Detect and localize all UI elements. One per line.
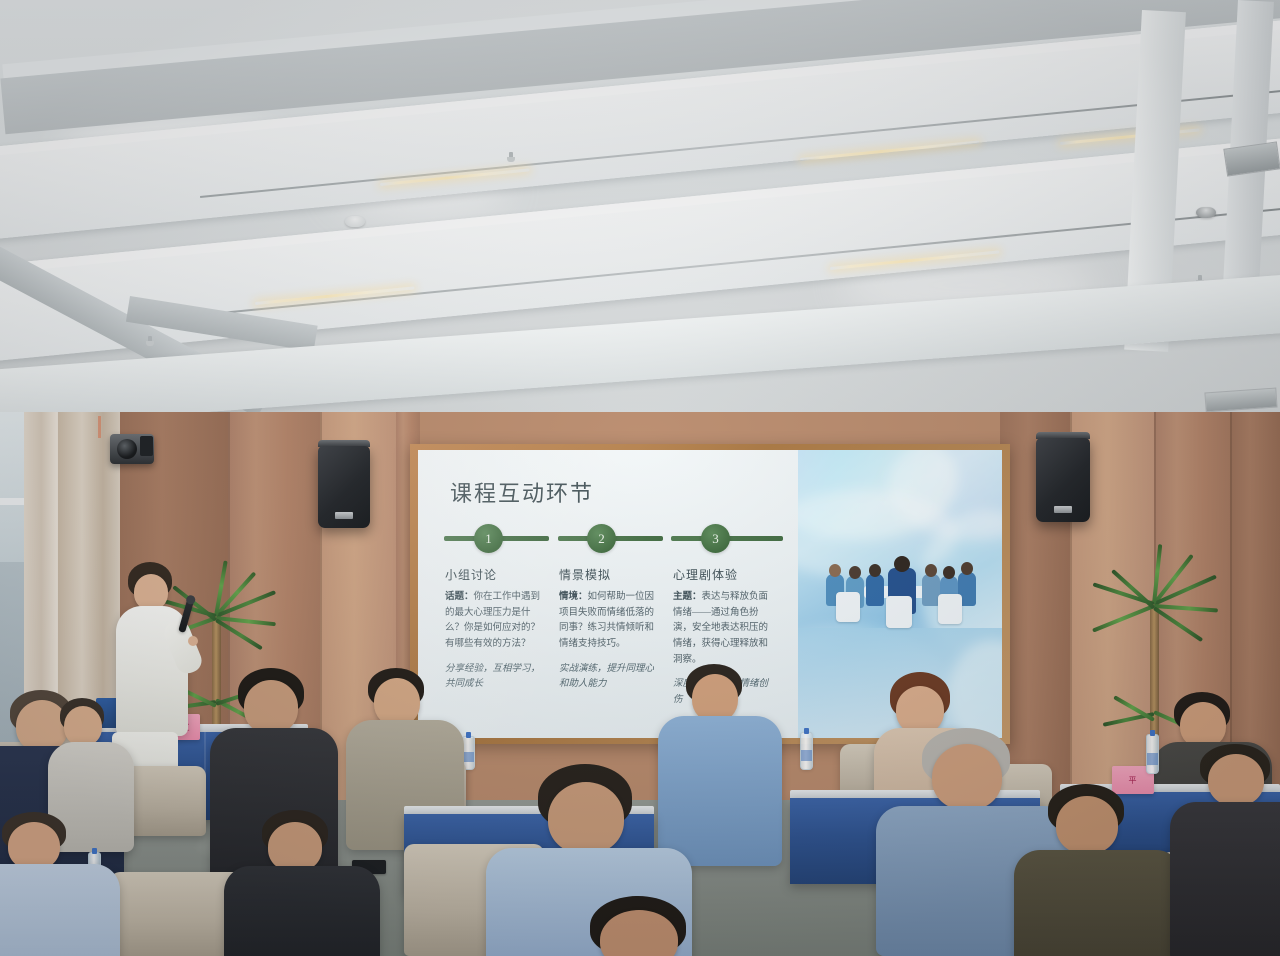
water-bottle[interactable]: [800, 732, 813, 770]
column-body: 话题：你在工作中遇到的最大心理压力是什么？你是如何应对的？有哪些有效的方法？: [445, 590, 541, 653]
ptz-camera-icon: [110, 434, 154, 464]
slide-title: 课程互动环节: [450, 476, 594, 508]
column-footer: 实战演练，提升同理心和助人能力: [559, 662, 655, 693]
ceiling: [0, 0, 1280, 420]
wall-speaker: [318, 446, 370, 528]
slide-content: 课程互动环节 1 2 3 小组讨论 话题：你在工作中遇到的最大心理压力是什么？你…: [418, 450, 798, 738]
column-body-text: 表达与释放负面情绪——通过角色扮演，安全地表达积压的情绪，获得心理释放和洞察。: [673, 592, 768, 665]
column-body: 主题：表达与释放负面情绪——通过角色扮演，安全地表达积压的情绪，获得心理释放和洞…: [673, 590, 769, 668]
step-badge-2: 2: [587, 524, 616, 553]
column-body: 情境：如何帮助一位因项目失败而情绪低落的同事？练习共情倾听和情绪支持技巧。: [559, 590, 655, 653]
wall-speaker: [1036, 438, 1090, 522]
slide-column-1: 小组讨论 话题：你在工作中遇到的最大心理压力是什么？你是如何应对的？有哪些有效的…: [445, 566, 541, 693]
sprinkler-head-icon: [146, 336, 154, 348]
column-heading: 小组讨论: [445, 566, 541, 583]
column-heading: 心理剧体验: [673, 566, 769, 583]
step-badge-1: 1: [474, 524, 503, 553]
presenter-head: [134, 574, 168, 610]
ceiling-vent: [1204, 388, 1277, 413]
column-footer: 分享经验，互相学习，共同成长: [445, 662, 541, 693]
sprinkler-head-icon: [507, 152, 515, 164]
column-heading: 情景模拟: [559, 566, 655, 583]
smoke-detector-icon: [345, 216, 365, 227]
water-bottle[interactable]: [1146, 734, 1159, 774]
curtain: [58, 412, 118, 742]
conference-room-photo: 课程互动环节 1 2 3 小组讨论 话题：你在工作中遇到的最大心理压力是什么？你…: [0, 0, 1280, 956]
slide-column-2: 情景模拟 情境：如何帮助一位因项目失败而情绪低落的同事？练习共情倾听和情绪支持技…: [559, 566, 655, 693]
smoke-detector-icon: [1196, 207, 1216, 218]
column-body-label: 情境：: [559, 592, 588, 602]
column-body-label: 话题：: [445, 592, 474, 602]
column-body-label: 主题：: [673, 592, 702, 602]
step-badge-3: 3: [701, 524, 730, 553]
